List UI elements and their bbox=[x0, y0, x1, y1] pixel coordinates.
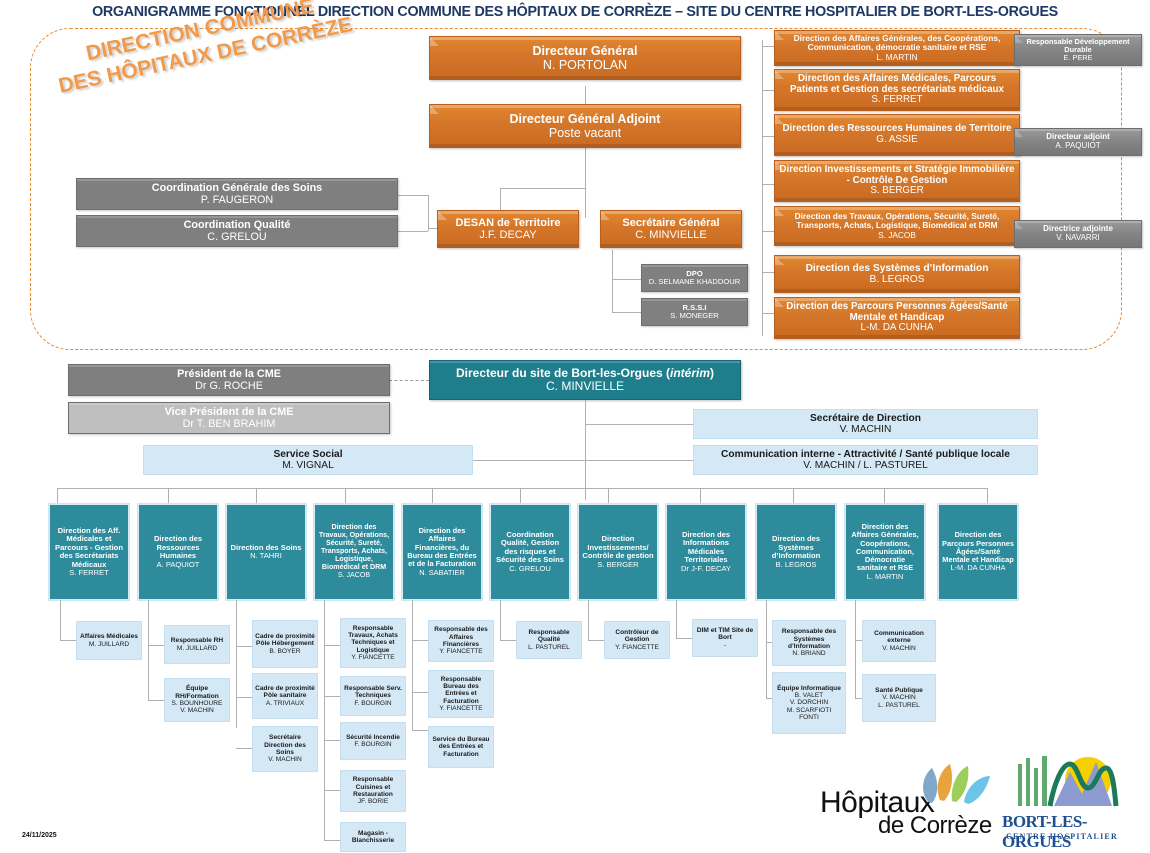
box-name: A. PAQUIOT bbox=[1055, 142, 1100, 151]
box-name: V. MACHIN bbox=[268, 756, 301, 763]
box-name: Y. FIANCETTE bbox=[439, 705, 482, 712]
logo-hopitaux-de-correze: Hôpitaux de Corrèze bbox=[820, 786, 992, 840]
box-name: C. MINVIELLE bbox=[635, 229, 707, 241]
box-title: Responsable Bureau des Entrées et Factur… bbox=[431, 676, 491, 705]
box-name: Y. FIANCETTE bbox=[615, 644, 659, 651]
leaf-securite-incendie[interactable]: Sécurité Incendie F. BOURGIN bbox=[340, 722, 406, 760]
dept-box-systemes-information[interactable]: Direction des Systèmes d’Information B. … bbox=[756, 504, 836, 600]
connector bbox=[412, 692, 428, 693]
box-name: B. VALET V. DORCHIN M. SCARFIOTI FONTI bbox=[787, 692, 831, 722]
connector bbox=[57, 488, 58, 504]
box-name: C. MINVIELLE bbox=[546, 380, 624, 393]
box-name: Dr T. BEN BRAHIM bbox=[183, 418, 276, 430]
box-title: Secrétaire Direction des Soins bbox=[255, 734, 315, 756]
box-title: Responsable Travaux, Achats Techniques e… bbox=[343, 625, 403, 654]
connector bbox=[585, 460, 693, 461]
leaf-responsable-qualite[interactable]: Responsable Qualité L. PASTUREL bbox=[516, 621, 582, 659]
box-directeur-general-adjoint[interactable]: Directeur Général Adjoint Poste vacant bbox=[429, 104, 741, 148]
connector bbox=[612, 250, 613, 312]
box-title: Direction des Parcours Personnes Âgées/S… bbox=[779, 302, 1015, 324]
box-name: N. PORTOLAN bbox=[543, 58, 627, 72]
connector bbox=[324, 696, 340, 697]
leaf-controleur-gestion[interactable]: Contrôleur de Gestion Y. FIANCETTE bbox=[604, 621, 670, 659]
box-name: B. LEGROS bbox=[776, 561, 817, 570]
box-name: L-M. DA CUNHA bbox=[861, 323, 934, 334]
box-title: Direction Investissements et Stratégie I… bbox=[779, 165, 1015, 187]
connector-bus bbox=[57, 488, 987, 489]
box-title: Direction des Affaires Générales, des Co… bbox=[779, 34, 1015, 53]
connector bbox=[500, 600, 501, 640]
leaf-responsable-systemes-information[interactable]: Responsable des Systèmes d’Information N… bbox=[772, 620, 846, 666]
box-name: A. TRIVIAUX bbox=[266, 700, 304, 707]
box-title: Direction des Parcours Personnes Âgées/S… bbox=[942, 531, 1014, 564]
leaves-icon bbox=[906, 760, 1006, 808]
box-directeur-general[interactable]: Directeur Général N. PORTOLAN bbox=[429, 36, 741, 80]
box-name: V. MACHIN L. PASTUREL bbox=[878, 694, 920, 709]
box-name: N. TAHRI bbox=[250, 552, 282, 561]
box-desan-territoire[interactable]: DESAN de Territoire J.F. DECAY bbox=[437, 210, 579, 248]
connector bbox=[412, 640, 428, 641]
leaf-dim-tim-site-bort[interactable]: DIM et TIM Site de Bort - bbox=[692, 619, 758, 657]
box-direction-investissements-strategie-immobiliere[interactable]: Direction Investissements et Stratégie I… bbox=[774, 160, 1020, 202]
connector bbox=[884, 488, 885, 504]
bort-emblem-icon bbox=[1000, 754, 1140, 814]
box-title: Responsable Développement Durable bbox=[1019, 38, 1137, 55]
leaf-responsable-rh[interactable]: Responsable RH M. JUILLARD bbox=[164, 625, 230, 664]
leaf-communication-externe[interactable]: Communication externe V. MACHIN bbox=[862, 620, 936, 662]
connector bbox=[585, 424, 693, 425]
box-responsable-developpement-durable[interactable]: Responsable Développement Durable E. PER… bbox=[1014, 34, 1142, 66]
box-dpo[interactable]: DPO D. SELMANE KHADDOUR bbox=[641, 264, 748, 292]
connector bbox=[608, 488, 609, 504]
connector bbox=[793, 488, 794, 504]
box-name: J.F. DECAY bbox=[479, 229, 536, 241]
connector bbox=[236, 748, 252, 749]
box-directeur-site-bort-les-orgues[interactable]: Directeur du site de Bort-les-Orgues (in… bbox=[429, 360, 741, 400]
connector bbox=[398, 231, 428, 232]
connector bbox=[676, 600, 677, 638]
connector bbox=[762, 231, 774, 232]
box-title: Direction des Informations Médicales Ter… bbox=[670, 531, 742, 565]
box-title: Direction des Travaux, Opérations, Sécur… bbox=[779, 212, 1015, 231]
box-president-cme[interactable]: Président de la CME Dr G. ROCHE bbox=[68, 364, 390, 396]
box-title: Service du Bureau des Entrées et Factura… bbox=[431, 736, 491, 758]
box-name: L. MARTIN bbox=[867, 573, 903, 581]
dept-box-affaires-generales[interactable]: Direction des Affaires Générales, Coopér… bbox=[845, 504, 925, 600]
connector bbox=[236, 600, 237, 728]
connector bbox=[588, 640, 604, 641]
connector bbox=[612, 279, 642, 280]
leaf-magasin-blanchisserie[interactable]: Magasin - Blanchisserie bbox=[340, 822, 406, 852]
box-title: Responsable Cuisines et Restauration bbox=[343, 776, 403, 798]
box-title: Direction des Affaires Générales, Coopér… bbox=[849, 523, 921, 573]
box-name: S. MONEGER bbox=[670, 312, 719, 321]
dept-box-soins[interactable]: Direction des Soins N. TAHRI bbox=[226, 504, 306, 600]
box-title: Secrétaire Général bbox=[622, 217, 719, 229]
box-title: Cadre de proximité Pôle sanitaire bbox=[255, 685, 315, 700]
box-name: M. JUILLARD bbox=[177, 645, 217, 652]
box-name: Poste vacant bbox=[549, 126, 621, 140]
box-name: Y. FIANCETTE bbox=[439, 648, 482, 655]
leaf-responsable-affaires-financieres[interactable]: Responsable des Affaires Financières Y. … bbox=[428, 620, 494, 662]
box-title: Secrétaire de Direction bbox=[810, 413, 921, 424]
box-name: S. BERGER bbox=[597, 561, 638, 570]
box-title: Direction des Ressources Humaines bbox=[142, 535, 214, 561]
box-directeur-adjoint[interactable]: Directeur adjoint A. PAQUIOT bbox=[1014, 128, 1142, 156]
box-title: Directeur Général bbox=[533, 44, 638, 58]
box-name: A. PAQUIOT bbox=[157, 561, 200, 570]
box-name: N. SABATIER bbox=[419, 569, 464, 577]
dept-box-informations-medicales[interactable]: Direction des Informations Médicales Ter… bbox=[666, 504, 746, 600]
box-title: Directeur du site de Bort-les-Orgues (in… bbox=[456, 367, 714, 380]
connector bbox=[855, 600, 856, 698]
box-title: Équipe Informatique bbox=[777, 685, 841, 692]
box-title: Coordination Qualité bbox=[184, 219, 291, 231]
connector bbox=[398, 195, 428, 196]
box-title: Communication interne - Attractivité / S… bbox=[721, 449, 1010, 460]
box-title: Responsable RH bbox=[171, 637, 223, 644]
box-title: Santé Publique bbox=[875, 687, 923, 694]
leaf-equipe-rh-formation[interactable]: Équipe RH/Formation S. BOUNHOURE V. MACH… bbox=[164, 678, 230, 722]
connector bbox=[324, 840, 340, 841]
connector-dashed bbox=[389, 380, 429, 381]
box-title: Communication externe bbox=[865, 630, 933, 645]
box-name: M. JUILLARD bbox=[89, 641, 129, 648]
box-title: Service Social bbox=[273, 449, 342, 460]
leaf-responsable-serv-techniques[interactable]: Responsable Serv. Techniques F. BOURGIN bbox=[340, 676, 406, 716]
connector bbox=[762, 40, 763, 336]
box-title: Direction Investissements/ Contrôle de g… bbox=[582, 535, 654, 561]
leaf-service-bureau-entrees[interactable]: Service du Bureau des Entrées et Factura… bbox=[428, 726, 494, 768]
connector bbox=[148, 700, 164, 701]
box-communication-interne[interactable]: Communication interne - Attractivité / S… bbox=[693, 445, 1038, 475]
box-title: Direction des Aff. Médicales et Parcours… bbox=[53, 527, 125, 570]
connector bbox=[324, 645, 340, 646]
box-name: D. SELMANE KHADDOUR bbox=[649, 278, 741, 287]
connector bbox=[428, 195, 429, 231]
connector bbox=[700, 488, 701, 504]
connector bbox=[60, 640, 76, 641]
connector bbox=[473, 460, 585, 461]
connector bbox=[762, 136, 774, 137]
connector bbox=[762, 184, 774, 185]
page-title: ORGANIGRAMME FONCTIONNEL DIRECTION COMMU… bbox=[0, 4, 1150, 20]
dept-box-affaires-medicales[interactable]: Direction des Aff. Médicales et Parcours… bbox=[49, 504, 129, 600]
box-title: Responsable Serv. Techniques bbox=[343, 685, 403, 700]
box-direction-systemes-information[interactable]: Direction des Systèmes d’Information B. … bbox=[774, 255, 1020, 293]
box-name: B. BOYER bbox=[269, 648, 300, 655]
box-name: N. BRIAND bbox=[792, 650, 825, 657]
box-title: Coordination Générale des Soins bbox=[152, 182, 322, 194]
box-title: DESAN de Territoire bbox=[456, 217, 561, 229]
connector bbox=[762, 90, 774, 91]
box-title: Responsable des Systèmes d’Information bbox=[775, 628, 843, 650]
box-name: S. JACOB bbox=[878, 231, 916, 240]
box-name: C. GRELOU bbox=[207, 231, 266, 243]
box-name: V. MACHIN bbox=[840, 424, 892, 435]
connector bbox=[766, 600, 767, 698]
box-coordination-generale-soins[interactable]: Coordination Générale des Soins P. FAUGE… bbox=[76, 178, 398, 210]
box-direction-parcours-personnes-agees[interactable]: Direction des Parcours Personnes Âgées/S… bbox=[774, 297, 1020, 339]
box-name: Dr J-F. DECAY bbox=[681, 565, 731, 574]
leaf-cadre-proximite-hebergement[interactable]: Cadre de proximité Pôle Hébergement B. B… bbox=[252, 620, 318, 668]
connector bbox=[60, 600, 61, 640]
box-name: V. MACHIN bbox=[882, 645, 915, 652]
box-title: Magasin - Blanchisserie bbox=[343, 830, 403, 845]
box-rssi[interactable]: R.S.S.I S. MONEGER bbox=[641, 298, 748, 326]
box-title: Équipe RH/Formation bbox=[167, 685, 227, 700]
connector bbox=[236, 646, 252, 647]
box-name: C. GRELOU bbox=[509, 565, 551, 574]
box-name: F. BOURGIN bbox=[354, 741, 391, 748]
box-service-social[interactable]: Service Social M. VIGNAL bbox=[143, 445, 473, 475]
box-name: V. NAVARRI bbox=[1056, 234, 1099, 243]
box-title: Directeur Général Adjoint bbox=[510, 112, 661, 126]
box-vice-president-cme[interactable]: Vice Président de la CME Dr T. BEN BRAHI… bbox=[68, 402, 390, 434]
connector bbox=[412, 600, 413, 730]
leaf-responsable-cuisines-restauration[interactable]: Responsable Cuisines et Restauration JF.… bbox=[340, 770, 406, 812]
connector bbox=[612, 312, 642, 313]
connector bbox=[520, 488, 521, 504]
box-name: L-M. DA CUNHA bbox=[950, 564, 1005, 572]
box-direction-ressources-humaines-territoire[interactable]: Direction des Ressources Humaines de Ter… bbox=[774, 114, 1020, 156]
box-title: Direction des Systèmes d’Information bbox=[760, 535, 832, 561]
box-name: B. LEGROS bbox=[870, 274, 925, 285]
connector bbox=[987, 488, 988, 504]
box-name: G. ASSIE bbox=[876, 135, 917, 146]
box-direction-affaires-medicales[interactable]: Direction des Affaires Médicales, Parcou… bbox=[774, 69, 1020, 111]
logo-bort-line-2: CENTRE HOSPITALIER bbox=[1006, 832, 1118, 841]
connector bbox=[432, 488, 433, 504]
box-name: V. MACHIN / L. PASTUREL bbox=[803, 460, 928, 471]
logo-bort-les-orgues: BORT-LES-ORGUES CENTRE HOSPITALIER bbox=[1000, 760, 1140, 850]
box-direction-affaires-generales[interactable]: Direction des Affaires Générales, des Co… bbox=[774, 30, 1020, 66]
box-coordination-qualite[interactable]: Coordination Qualité C. GRELOU bbox=[76, 215, 398, 247]
connector bbox=[412, 730, 428, 731]
box-title: Cadre de proximité Pôle Hébergement bbox=[255, 633, 315, 648]
box-title: Responsable des Affaires Financières bbox=[431, 626, 491, 648]
box-title: Coordination Qualité, Gestion des risque… bbox=[494, 531, 566, 565]
dept-box-coordination-qualite[interactable]: Coordination Qualité, Gestion des risque… bbox=[490, 504, 570, 600]
connector bbox=[256, 488, 257, 504]
dept-box-ressources-humaines[interactable]: Direction des Ressources Humaines A. PAQ… bbox=[138, 504, 218, 600]
leaf-responsable-bureau-entrees[interactable]: Responsable Bureau des Entrées et Factur… bbox=[428, 670, 494, 718]
box-name: S. JACOB bbox=[338, 572, 370, 580]
box-name: E. PERE bbox=[1063, 54, 1092, 62]
box-title: Direction des Affaires Médicales, Parcou… bbox=[779, 74, 1015, 96]
connector bbox=[588, 600, 589, 640]
box-title: Direction des Systèmes d’Information bbox=[806, 263, 989, 274]
box-title: DIM et TIM Site de Bort bbox=[695, 627, 755, 642]
connector bbox=[236, 697, 252, 698]
box-name: S. FERRET bbox=[69, 569, 109, 578]
box-secretaire-direction[interactable]: Secrétaire de Direction V. MACHIN bbox=[693, 409, 1038, 439]
dept-box-investissements-controle-gestion[interactable]: Direction Investissements/ Contrôle de g… bbox=[578, 504, 658, 600]
box-name: L. MARTIN bbox=[876, 53, 917, 62]
box-name: P. FAUGERON bbox=[201, 194, 273, 206]
connector bbox=[585, 400, 586, 500]
box-name: Y. FIANCETTE bbox=[351, 654, 394, 661]
leaf-secretaire-direction-soins[interactable]: Secrétaire Direction des Soins V. MACHIN bbox=[252, 726, 318, 772]
date-stamp: 24/11/2025 bbox=[22, 832, 57, 839]
leaf-sante-publique[interactable]: Santé Publique V. MACHIN L. PASTUREL bbox=[862, 674, 936, 722]
box-title: Président de la CME bbox=[177, 368, 281, 380]
leaf-cadre-proximite-sanitaire[interactable]: Cadre de proximité Pôle sanitaire A. TRI… bbox=[252, 673, 318, 719]
box-name: Dr G. ROCHE bbox=[195, 380, 263, 392]
leaf-responsable-travaux-achats[interactable]: Responsable Travaux, Achats Techniques e… bbox=[340, 618, 406, 668]
box-title: Direction des Travaux, Opérations, Sécur… bbox=[317, 524, 391, 572]
box-title: Contrôleur de Gestion bbox=[607, 629, 667, 644]
connector bbox=[324, 740, 340, 741]
box-title: Direction des Affaires Financières, du B… bbox=[406, 527, 478, 568]
connector bbox=[148, 600, 149, 700]
leaf-affaires-medicales[interactable]: Affaires Médicales M. JUILLARD bbox=[76, 621, 142, 660]
connector bbox=[762, 272, 774, 273]
box-secretaire-general[interactable]: Secrétaire Général C. MINVIELLE bbox=[600, 210, 742, 248]
box-title: Vice Président de la CME bbox=[165, 406, 294, 418]
box-name: F. BOURGIN bbox=[354, 700, 391, 707]
box-direction-travaux-operations[interactable]: Direction des Travaux, Opérations, Sécur… bbox=[774, 206, 1020, 246]
box-directrice-adjointe[interactable]: Directrice adjointe V. NAVARRI bbox=[1014, 220, 1142, 248]
box-name: S. BERGER bbox=[870, 186, 923, 197]
box-title: Responsable Qualité bbox=[519, 629, 579, 644]
box-title: Affaires Médicales bbox=[80, 633, 138, 640]
box-title: Sécurité Incendie bbox=[346, 734, 400, 741]
dept-box-affaires-financieres[interactable]: Direction des Affaires Financières, du B… bbox=[402, 504, 482, 600]
leaf-equipe-informatique[interactable]: Équipe Informatique B. VALET V. DORCHIN … bbox=[772, 672, 846, 734]
connector bbox=[676, 638, 692, 639]
box-name: M. VIGNAL bbox=[282, 460, 334, 471]
connector bbox=[324, 790, 340, 791]
logo-line-2: de Corrèze bbox=[878, 812, 992, 840]
connector bbox=[762, 313, 774, 314]
connector bbox=[762, 46, 774, 47]
dept-box-parcours-personnes-agees[interactable]: Direction des Parcours Personnes Âgées/S… bbox=[938, 504, 1018, 600]
dept-box-travaux-operations[interactable]: Direction des Travaux, Opérations, Sécur… bbox=[314, 504, 394, 600]
box-name: JF. BORIE bbox=[358, 798, 388, 805]
connector bbox=[148, 645, 164, 646]
box-name: S. BOUNHOURE V. MACHIN bbox=[172, 700, 223, 715]
connector bbox=[500, 640, 516, 641]
box-name: - bbox=[724, 642, 726, 649]
connector bbox=[168, 488, 169, 504]
connector bbox=[500, 188, 585, 189]
connector bbox=[324, 600, 325, 840]
box-name: L. PASTUREL bbox=[528, 644, 570, 651]
box-name: S. FERRET bbox=[871, 95, 922, 106]
connector bbox=[585, 146, 586, 218]
connector bbox=[345, 488, 346, 504]
